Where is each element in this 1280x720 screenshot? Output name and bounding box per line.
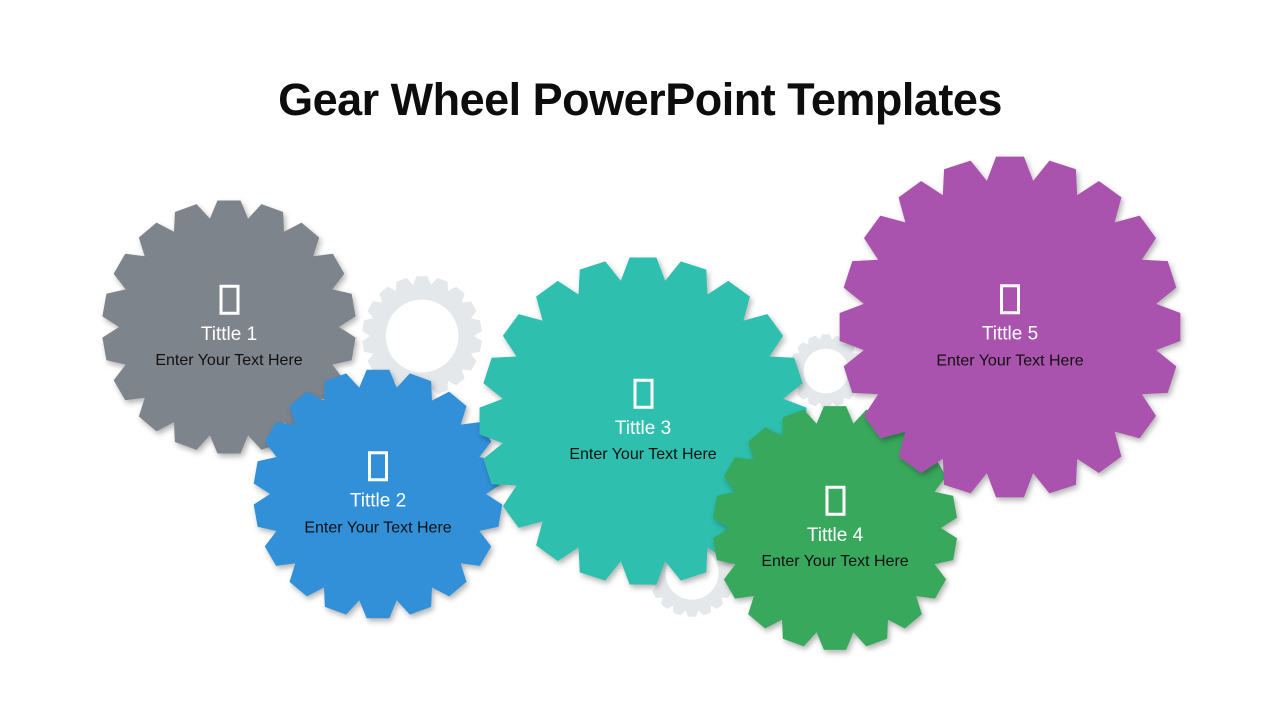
gear-5[interactable]: Tittle 5Enter Your Text Here <box>825 142 1195 512</box>
slide-canvas: Gear Wheel PowerPoint Templates Tittle 1… <box>0 0 1280 720</box>
gear-shape[interactable] <box>840 157 1181 498</box>
gear-diagram: Tittle 1Enter Your Text HereTittle 2Ente… <box>0 0 1280 720</box>
